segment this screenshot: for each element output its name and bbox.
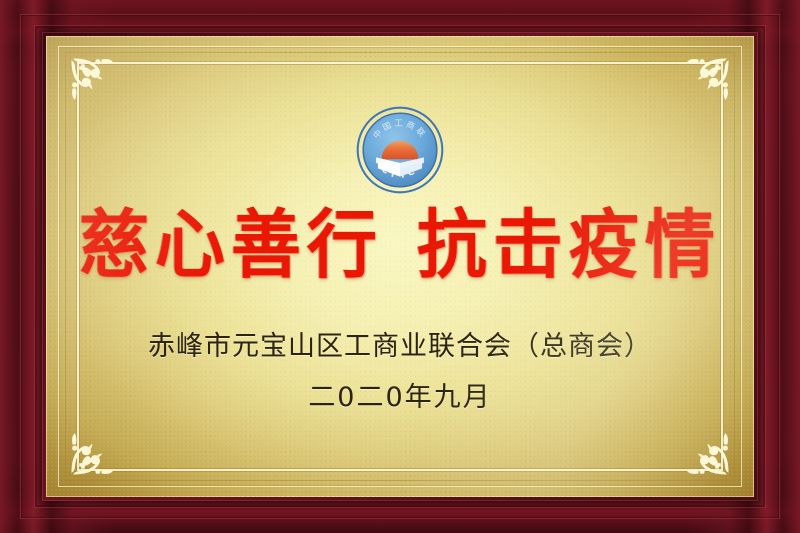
award-plaque: 中国工商联 CFIC 慈心善行	[0, 0, 800, 533]
gold-plate: 中国工商联 CFIC 慈心善行	[46, 36, 754, 497]
issue-date: 二0二0年九月	[308, 375, 491, 414]
plaque-content: 中国工商联 CFIC 慈心善行	[46, 36, 754, 497]
cfic-emblem-icon: 中国工商联 CFIC	[354, 104, 446, 196]
headline-part-1: 慈心善行	[79, 208, 383, 282]
headline-part-2: 抗击疫情	[417, 208, 721, 282]
issuing-organization: 赤峰市元宝山区工商业联合会（总商会）	[148, 324, 652, 363]
headline: 慈心善行 抗击疫情	[79, 210, 721, 280]
